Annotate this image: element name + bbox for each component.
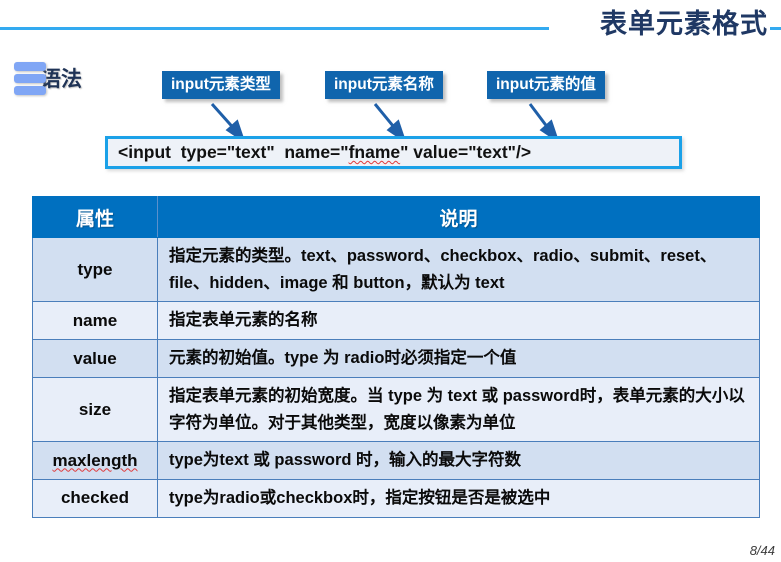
syntax-suffix: " value="text"/> bbox=[400, 142, 531, 162]
table-body: type 指定元素的类型。text、password、checkbox、radi… bbox=[33, 238, 760, 518]
input-attributes-table: 属性 说明 type 指定元素的类型。text、password、checkbo… bbox=[32, 196, 760, 518]
arrow-line-name bbox=[375, 104, 398, 132]
table-row: maxlength type为text 或 password 时，输入的最大字符… bbox=[33, 442, 760, 480]
cell-description-type: 指定元素的类型。text、password、checkbox、radio、sub… bbox=[158, 238, 760, 302]
section-label-text: 语法 bbox=[40, 63, 82, 93]
cell-description-name: 指定表单元素的名称 bbox=[158, 302, 760, 340]
callout-input-name: input元素名称 bbox=[325, 71, 443, 99]
syntax-prefix: <input type="text" name=" bbox=[118, 142, 349, 162]
cell-attribute-checked: checked bbox=[33, 480, 158, 518]
syntax-code-text: <input type="text" name="fname" value="t… bbox=[108, 142, 531, 163]
syntax-code-box: <input type="text" name="fname" value="t… bbox=[105, 136, 682, 169]
cell-description-checked: type为radio或checkbox时，指定按钮是否是被选中 bbox=[158, 480, 760, 518]
callout-input-type: input元素类型 bbox=[162, 71, 280, 99]
arrow-line-type bbox=[212, 104, 237, 132]
callout-input-value: input元素的值 bbox=[487, 71, 605, 99]
table-row: size 指定表单元素的初始宽度。当 type 为 text 或 passwor… bbox=[33, 377, 760, 441]
table-row: name 指定表单元素的名称 bbox=[33, 302, 760, 340]
cell-attribute-name: name bbox=[33, 302, 158, 340]
header-divider-line bbox=[0, 27, 549, 30]
cell-attribute-size: size bbox=[33, 377, 158, 441]
arrow-line-value bbox=[530, 104, 551, 132]
table-row: checked type为radio或checkbox时，指定按钮是否是被选中 bbox=[33, 480, 760, 518]
column-header-attribute: 属性 bbox=[33, 197, 158, 238]
cell-attribute-value: value bbox=[33, 340, 158, 378]
cell-attribute-maxlength: maxlength bbox=[33, 442, 158, 480]
table-header-row: 属性 说明 bbox=[33, 197, 760, 238]
table-header: 属性 说明 bbox=[33, 197, 760, 238]
cell-description-size: 指定表单元素的初始宽度。当 type 为 text 或 password时，表单… bbox=[158, 377, 760, 441]
cell-description-value: 元素的初始值。type 为 radio时必须指定一个值 bbox=[158, 340, 760, 378]
cell-attribute-type: type bbox=[33, 238, 158, 302]
section-label-group: 语法 bbox=[14, 55, 82, 101]
page-number: 8/44 bbox=[750, 543, 775, 558]
three-bars-icon bbox=[14, 62, 46, 95]
page-title: 表单元素格式 bbox=[600, 2, 768, 41]
table-row: type 指定元素的类型。text、password、checkbox、radi… bbox=[33, 238, 760, 302]
cell-description-maxlength: type为text 或 password 时，输入的最大字符数 bbox=[158, 442, 760, 480]
header-divider-line-right bbox=[770, 27, 781, 30]
syntax-fname-value: fname bbox=[349, 142, 401, 162]
column-header-description: 说明 bbox=[158, 197, 760, 238]
table-row: value 元素的初始值。type 为 radio时必须指定一个值 bbox=[33, 340, 760, 378]
